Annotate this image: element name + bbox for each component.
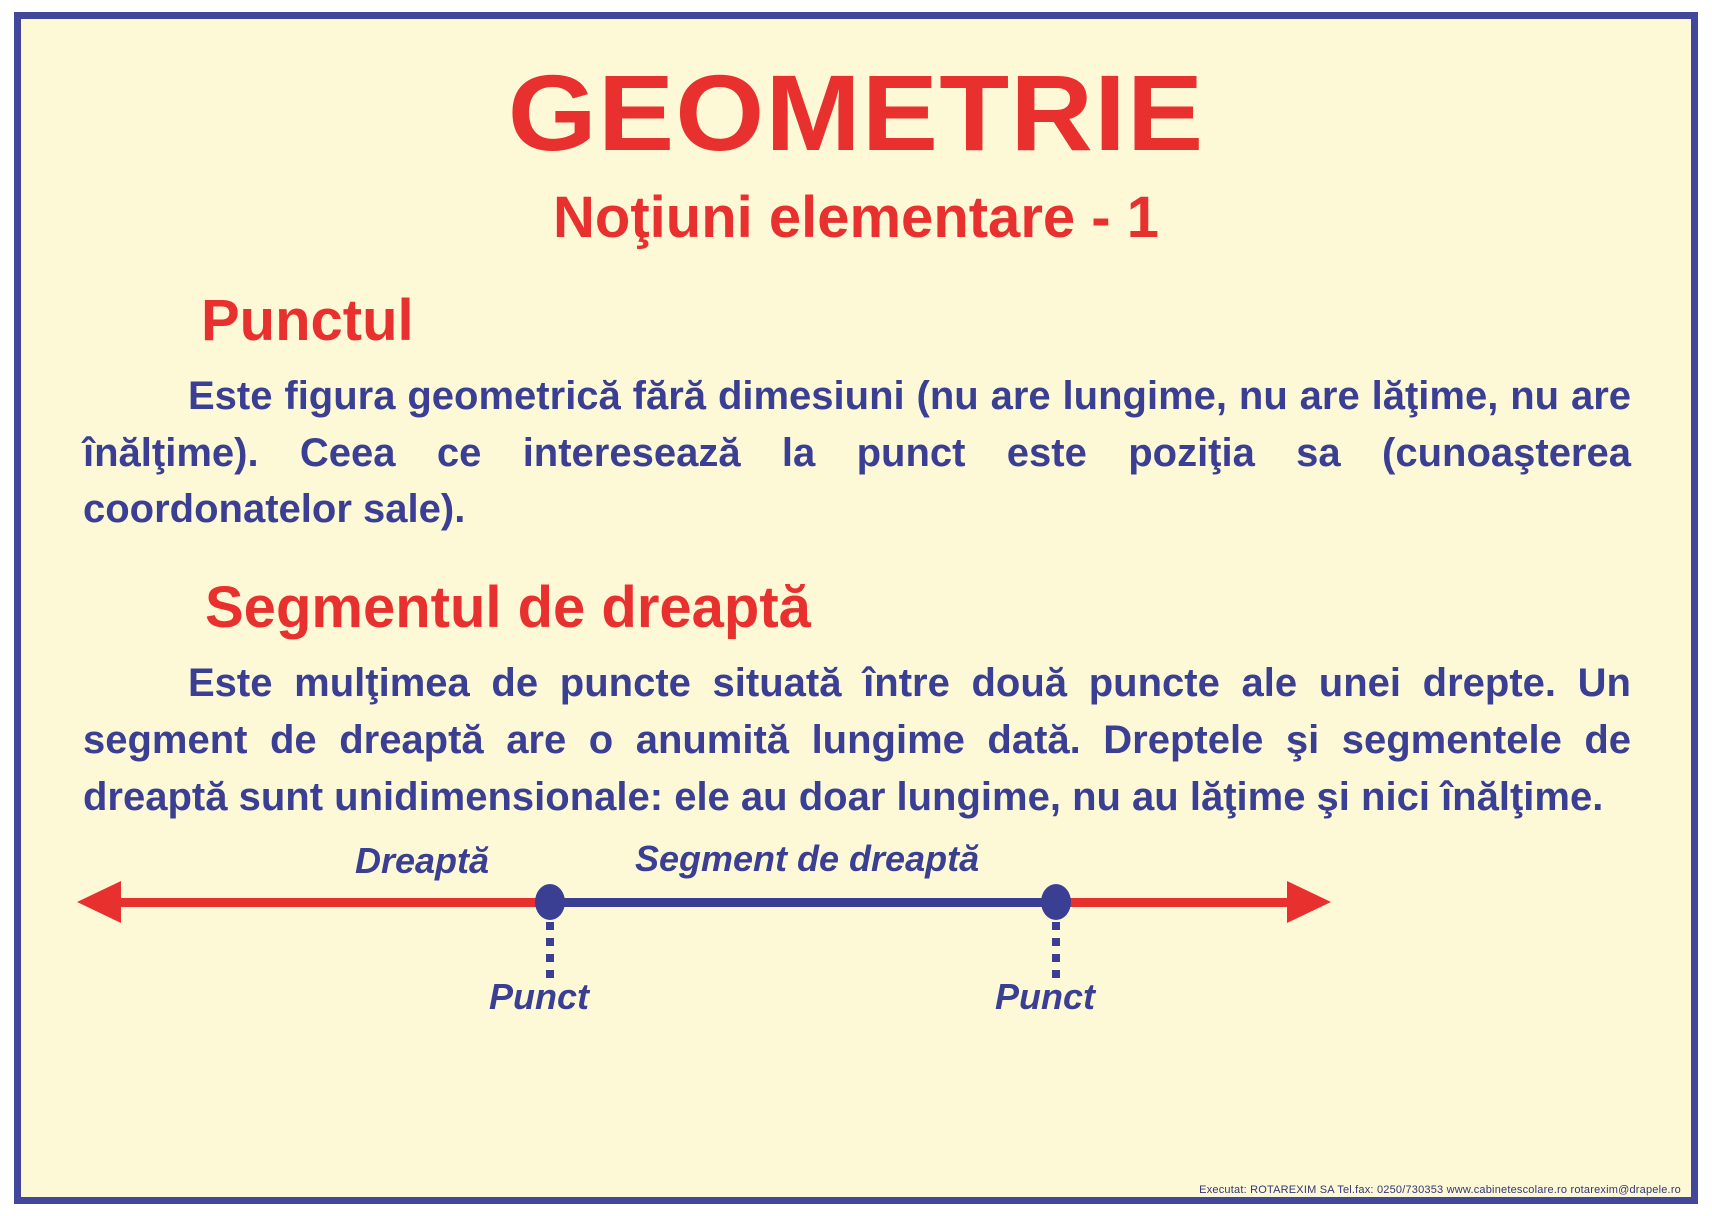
leader-line-left	[546, 922, 554, 980]
section-paragraph-punctul: Este figura geometrică fără dimesiuni (n…	[83, 368, 1631, 538]
line-ray-left	[111, 898, 551, 907]
page-subtitle: Noţiuni elementare - 1	[21, 189, 1691, 247]
page-title: GEOMETRIE	[0, 59, 1712, 167]
section-heading-segmentul: Segmentul de dreaptă	[205, 578, 1631, 639]
line-ray-right	[1045, 898, 1295, 907]
leader-line-right	[1052, 922, 1060, 980]
poster-canvas: GEOMETRIE Noţiuni elementare - 1 Punctul…	[14, 12, 1698, 1204]
diagram-label-segment: Segment de dreaptă	[635, 838, 979, 880]
footer-bar: Executat: ROTAREXIM SA Tel.fax: 0250/730…	[21, 1163, 1691, 1197]
footer-credit: Executat: ROTAREXIM SA Tel.fax: 0250/730…	[1199, 1184, 1681, 1196]
poster-content: Punctul Este figura geometrică fără dime…	[21, 291, 1691, 1066]
section-heading-punctul: Punctul	[201, 291, 1631, 352]
point-dot-left-icon	[535, 884, 565, 920]
arrow-right-icon	[1287, 881, 1331, 923]
section-paragraph-segmentul: Este mulţimea de puncte situată între do…	[83, 655, 1631, 825]
diagram-label-dreapta: Dreaptă	[355, 840, 489, 882]
diagram-label-punct-right: Punct	[995, 976, 1095, 1018]
paragraph-lead-punctul: Este figura geometrică fără dimesiuni (n…	[83, 374, 1372, 418]
paragraph-lead-segmentul: Este mulţimea de puncte situată între do…	[83, 661, 1578, 705]
segment-blue	[543, 898, 1055, 907]
point-dot-right-icon	[1041, 884, 1071, 920]
diagram-label-punct-left: Punct	[489, 976, 589, 1018]
line-segment-diagram: Dreaptă Segment de dreaptă Punct Punct	[83, 836, 1631, 1066]
